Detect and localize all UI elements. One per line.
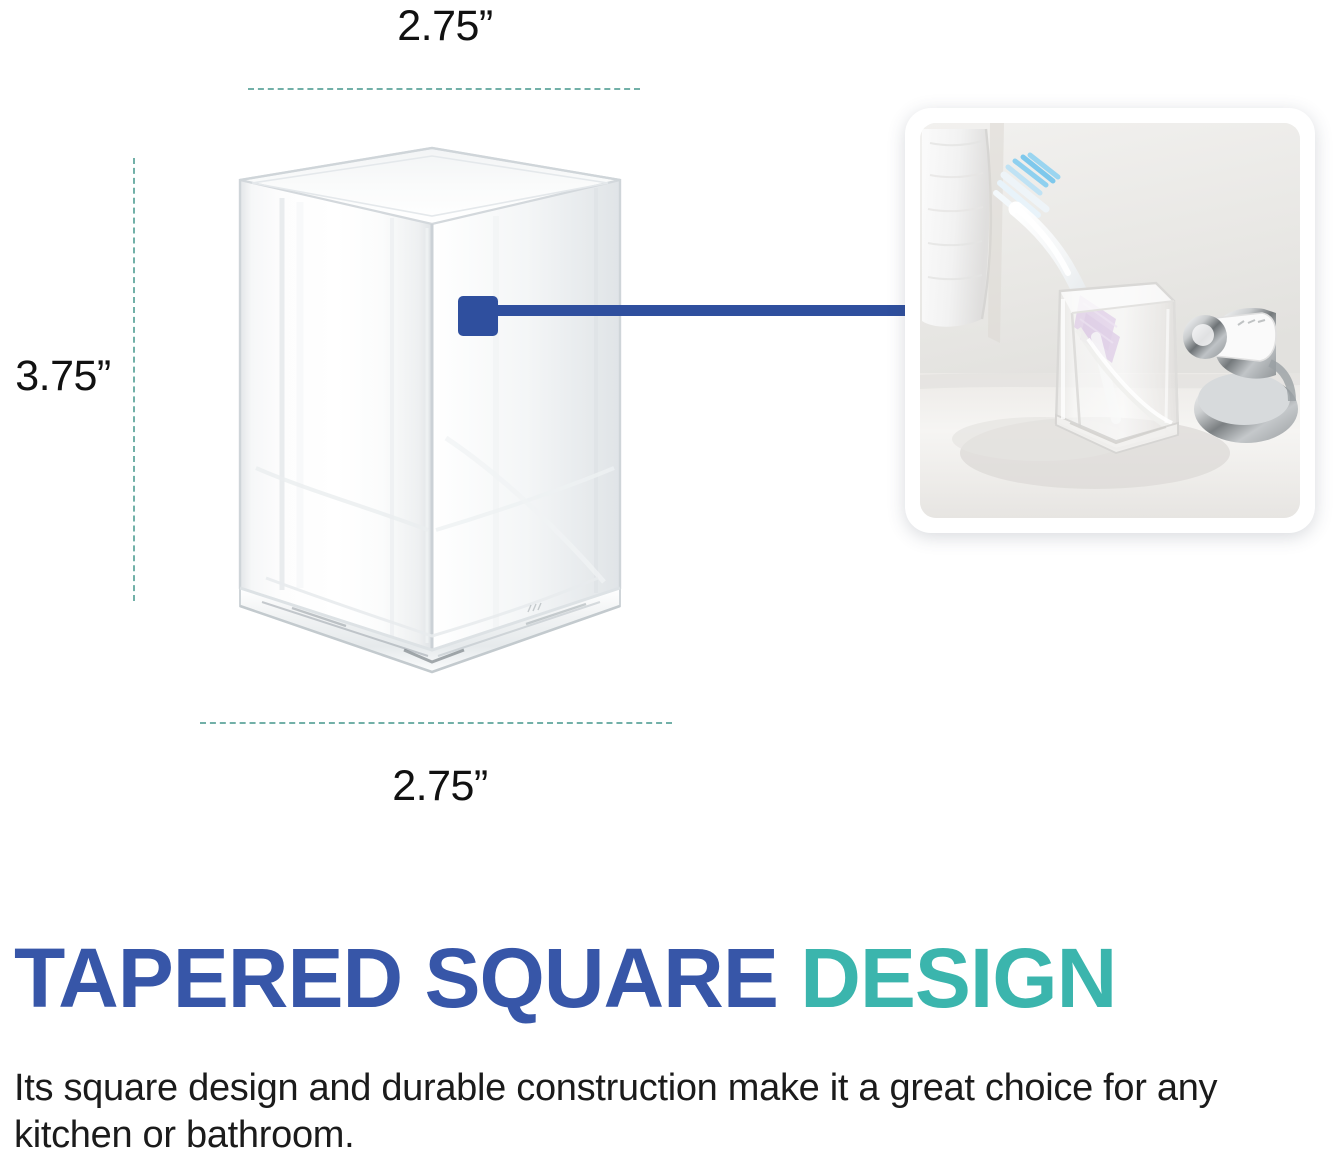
dimension-guide-top	[248, 88, 640, 90]
dimension-label-height: 3.75”	[2, 352, 124, 401]
infographic-canvas: 2.75” 3.75” 2.75”	[0, 0, 1335, 1155]
product-image-glass-tumbler	[196, 138, 664, 678]
lifestyle-photo-illustration	[920, 123, 1300, 518]
body-description: Its square design and durable constructi…	[14, 1065, 1332, 1159]
headline-part-two: DESIGN	[800, 931, 1116, 1025]
headline-part-one: TAPERED SQUARE	[14, 931, 800, 1025]
callout-connector-line	[492, 305, 912, 316]
inset-tumbler	[1056, 283, 1178, 453]
callout-marker	[458, 296, 498, 336]
dimension-label-top-width: 2.75”	[0, 2, 890, 51]
page-title: TAPERED SQUARE DESIGN	[14, 932, 1334, 1024]
towel	[922, 129, 991, 327]
glass-tumbler-illustration	[196, 138, 664, 678]
inset-photo-card[interactable]	[905, 108, 1315, 533]
dimension-guide-bottom	[200, 722, 672, 724]
dimension-label-bottom-width: 2.75”	[0, 762, 880, 811]
inset-photo	[920, 123, 1300, 518]
dimension-guide-left	[133, 158, 135, 601]
